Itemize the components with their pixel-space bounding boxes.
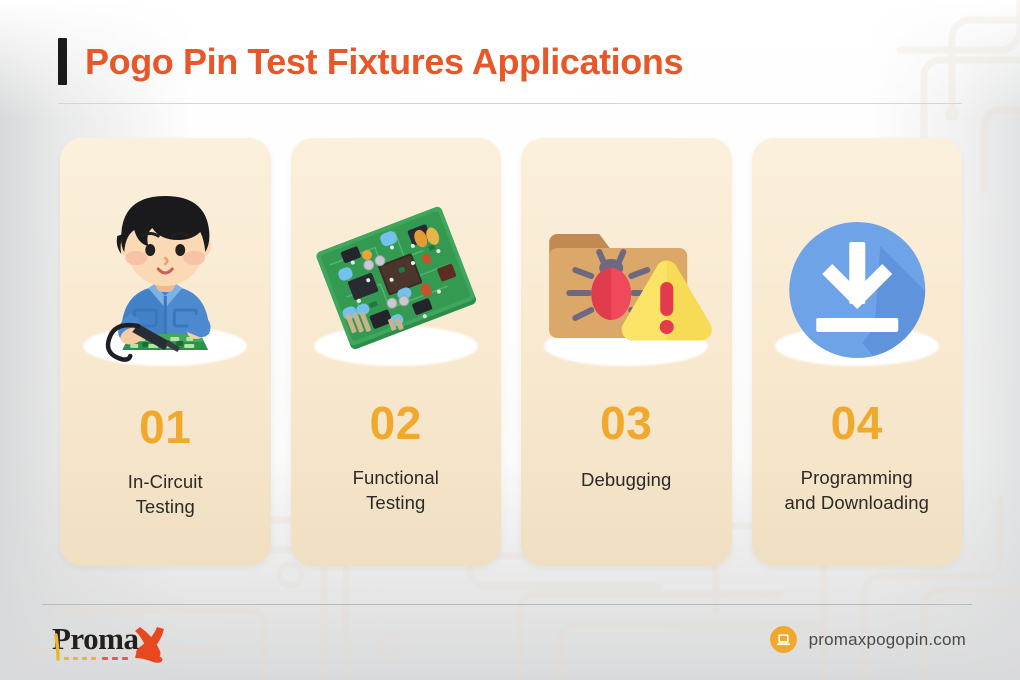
card-1-number: 01 [139, 404, 191, 450]
card-3-artwork [521, 138, 732, 390]
svg-text:Proma: Proma [52, 621, 139, 656]
website-url: promaxpogopin.com [809, 630, 966, 650]
green-pcb-board-icon [291, 138, 502, 390]
download-circle-icon [752, 138, 963, 390]
card-in-circuit-testing[interactable]: 01 In-CircuitTesting [60, 138, 271, 566]
header: Pogo Pin Test Fixtures Applications [58, 38, 683, 85]
page-title: Pogo Pin Test Fixtures Applications [85, 44, 683, 80]
card-2-label: FunctionalTesting [341, 466, 451, 516]
card-1-artwork [60, 138, 271, 390]
laptop-icon [770, 626, 797, 653]
promax-logo: Proma [52, 619, 202, 665]
card-debugging[interactable]: 03 Debugging [521, 138, 732, 566]
card-2-number: 02 [370, 400, 422, 446]
bug-folder-warning-icon [521, 138, 732, 390]
card-programming-downloading[interactable]: 04 Programmingand Downloading [752, 138, 963, 566]
header-divider [58, 103, 962, 104]
card-2-artwork [291, 138, 502, 390]
card-3-label: Debugging [569, 468, 683, 493]
infographic-poster: Pogo Pin Test Fixtures Applications [0, 0, 1020, 680]
footer-divider [42, 604, 972, 605]
card-3-number: 03 [600, 400, 652, 446]
application-cards: 01 In-CircuitTesting [60, 138, 962, 566]
card-4-label: Programmingand Downloading [773, 466, 941, 516]
website-link[interactable]: promaxpogopin.com [770, 626, 966, 653]
card-4-artwork [752, 138, 963, 390]
technician-probing-pcb-icon [60, 138, 271, 390]
title-accent-bar [58, 38, 67, 85]
card-1-label: In-CircuitTesting [116, 470, 215, 520]
card-4-number: 04 [831, 400, 883, 446]
card-functional-testing[interactable]: 02 FunctionalTesting [291, 138, 502, 566]
